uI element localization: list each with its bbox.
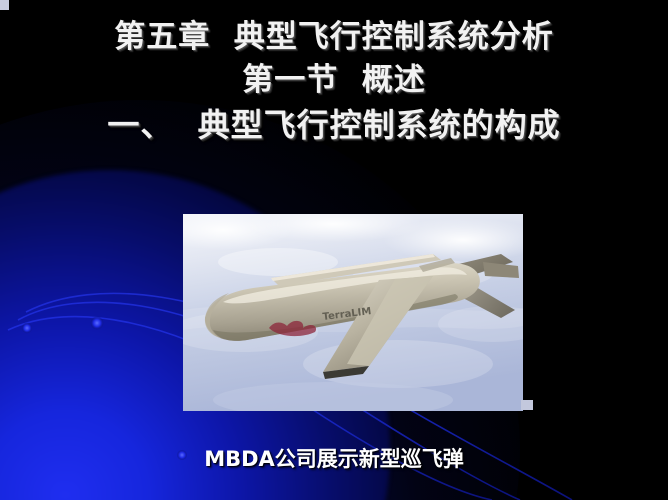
corner-marker-image-bottom-right [521, 400, 533, 410]
arc-node-dot [22, 323, 32, 333]
title-line-2: 第一节 概述 [0, 65, 668, 96]
presentation-slide: 第五章 典型飞行控制系统分析 第一节 概述 一、 典型飞行控制系统的构成 [0, 0, 668, 500]
title-line-1: 第五章 典型飞行控制系统分析 [0, 22, 668, 53]
corner-marker-top-left [0, 0, 9, 10]
title-line-3: 一、 典型飞行控制系统的构成 [0, 109, 668, 141]
arc-node-dot [91, 317, 104, 330]
slide-title-block: 第五章 典型飞行控制系统分析 第一节 概述 一、 典型飞行控制系统的构成 [0, 22, 668, 141]
image-caption: MBDA公司展示新型巡飞弹 [0, 443, 668, 473]
loitering-missile-photo: TerraLIM [183, 214, 523, 411]
